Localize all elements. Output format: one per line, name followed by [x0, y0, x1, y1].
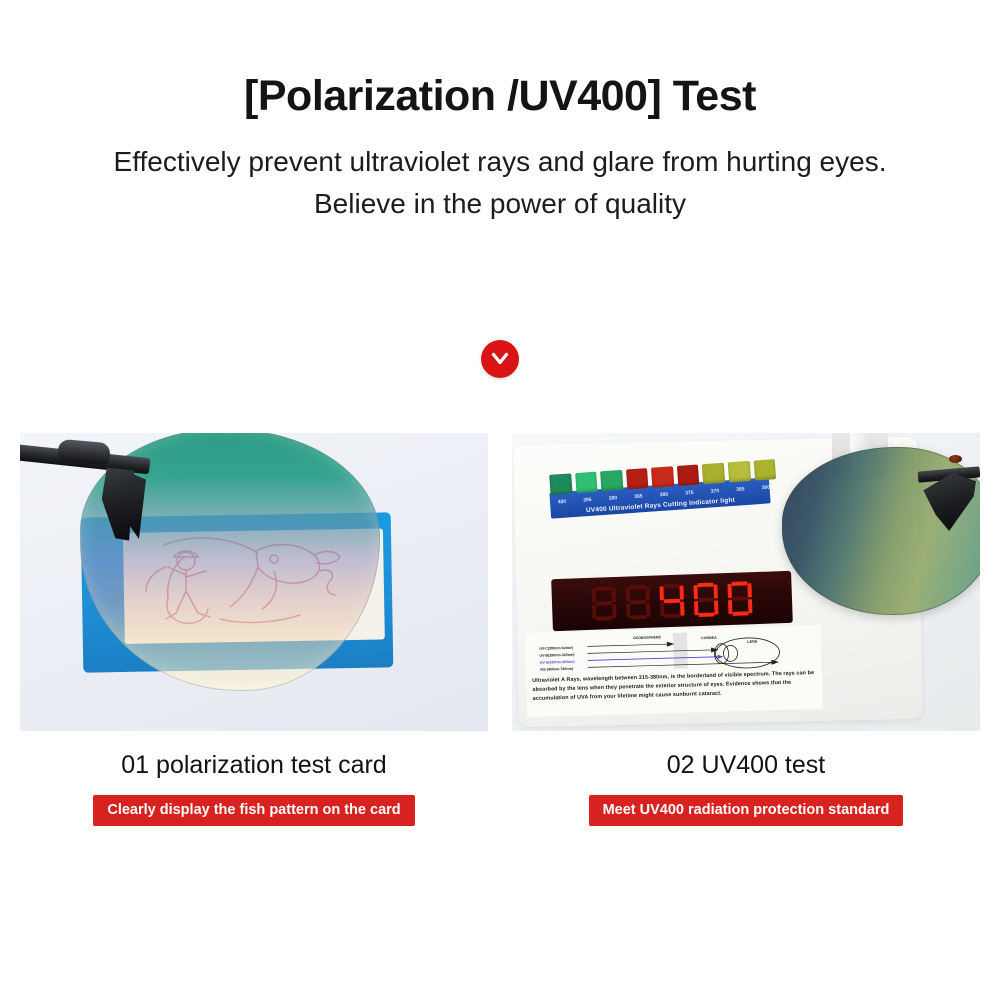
diagram-label-uvb: UV-B(280nm-320nm)	[539, 653, 575, 658]
seg-digit-2	[625, 585, 650, 620]
product-test-photos: UV400 Ultraviolet Rays Cutting Indicator…	[20, 433, 980, 731]
subtitle-line-2: Believe in the power of quality	[0, 183, 1000, 224]
uv-led: 365	[728, 461, 751, 482]
panel-captions: 01 polarization test card Clearly displa…	[20, 750, 980, 826]
uv-led: 385	[626, 468, 649, 489]
caption-title: 01 polarization test card	[20, 750, 488, 780]
photo-polarization-test-card	[20, 433, 488, 731]
page-title: [Polarization /UV400] Test	[0, 72, 1000, 121]
uv-led: 375	[677, 464, 700, 485]
diagram-label-lens: LENS	[747, 640, 758, 644]
photo-uv400-test: UV400 Ultraviolet Rays Cutting Indicator…	[512, 433, 980, 731]
uv-led: 360	[753, 459, 776, 480]
uv-led: 380	[651, 466, 674, 487]
diagram-label-vis: VIS (400nm-780nm)	[540, 667, 574, 672]
uv-led: 400	[549, 473, 572, 494]
caption-badge: Meet UV400 radiation protection standard	[589, 795, 904, 826]
caption-polarization-test-card: 01 polarization test card Clearly displa…	[20, 750, 488, 826]
caption-title: 02 UV400 test	[512, 750, 980, 780]
uv-info-paragraph: Ultraviolet A Rays, wavelength between 3…	[532, 669, 819, 703]
seg-digit-5	[727, 581, 752, 616]
uv-info-label: OZONOSPHERE CORNEA LENS UV-C(280nm below…	[525, 625, 823, 717]
indicator-dot	[949, 455, 962, 463]
caption-badge: Clearly display the fish pattern on the …	[93, 795, 414, 826]
subtitle-line-1: Effectively prevent ultraviolet rays and…	[0, 141, 1000, 182]
uv-led: 370	[702, 463, 725, 484]
diagram-label-cornea: CORNEA	[701, 636, 717, 640]
seg-digit-4	[693, 582, 718, 617]
page-header: [Polarization /UV400] Test Effectively p…	[0, 0, 1000, 224]
uv-eye-diagram: OZONOSPHERE CORNEA LENS UV-C(280nm below…	[525, 627, 822, 675]
uv-digital-readout	[551, 571, 793, 631]
diagram-label-uvc: UV-C(280nm below)	[539, 646, 573, 651]
diagram-label-uva: UV-A(320nm-400nm)	[540, 660, 576, 665]
section-divider	[0, 340, 1000, 378]
chevron-down-icon	[491, 352, 509, 366]
seg-digit-1	[591, 586, 616, 621]
page-subtitle: Effectively prevent ultraviolet rays and…	[0, 141, 1000, 224]
diagram-label-ozonosphere: OZONOSPHERE	[633, 635, 662, 640]
chevron-down-badge	[481, 340, 519, 378]
caption-uv400-test: 02 UV400 test Meet UV400 radiation prote…	[512, 750, 980, 826]
polarization-photo-scene	[20, 433, 488, 731]
clip-knob	[57, 439, 111, 465]
uv-led: 395	[575, 472, 598, 493]
uv400-photo-scene: UV400 Ultraviolet Rays Cutting Indicator…	[512, 433, 980, 731]
seg-digit-3	[659, 584, 684, 619]
uv-led: 390	[600, 470, 623, 491]
